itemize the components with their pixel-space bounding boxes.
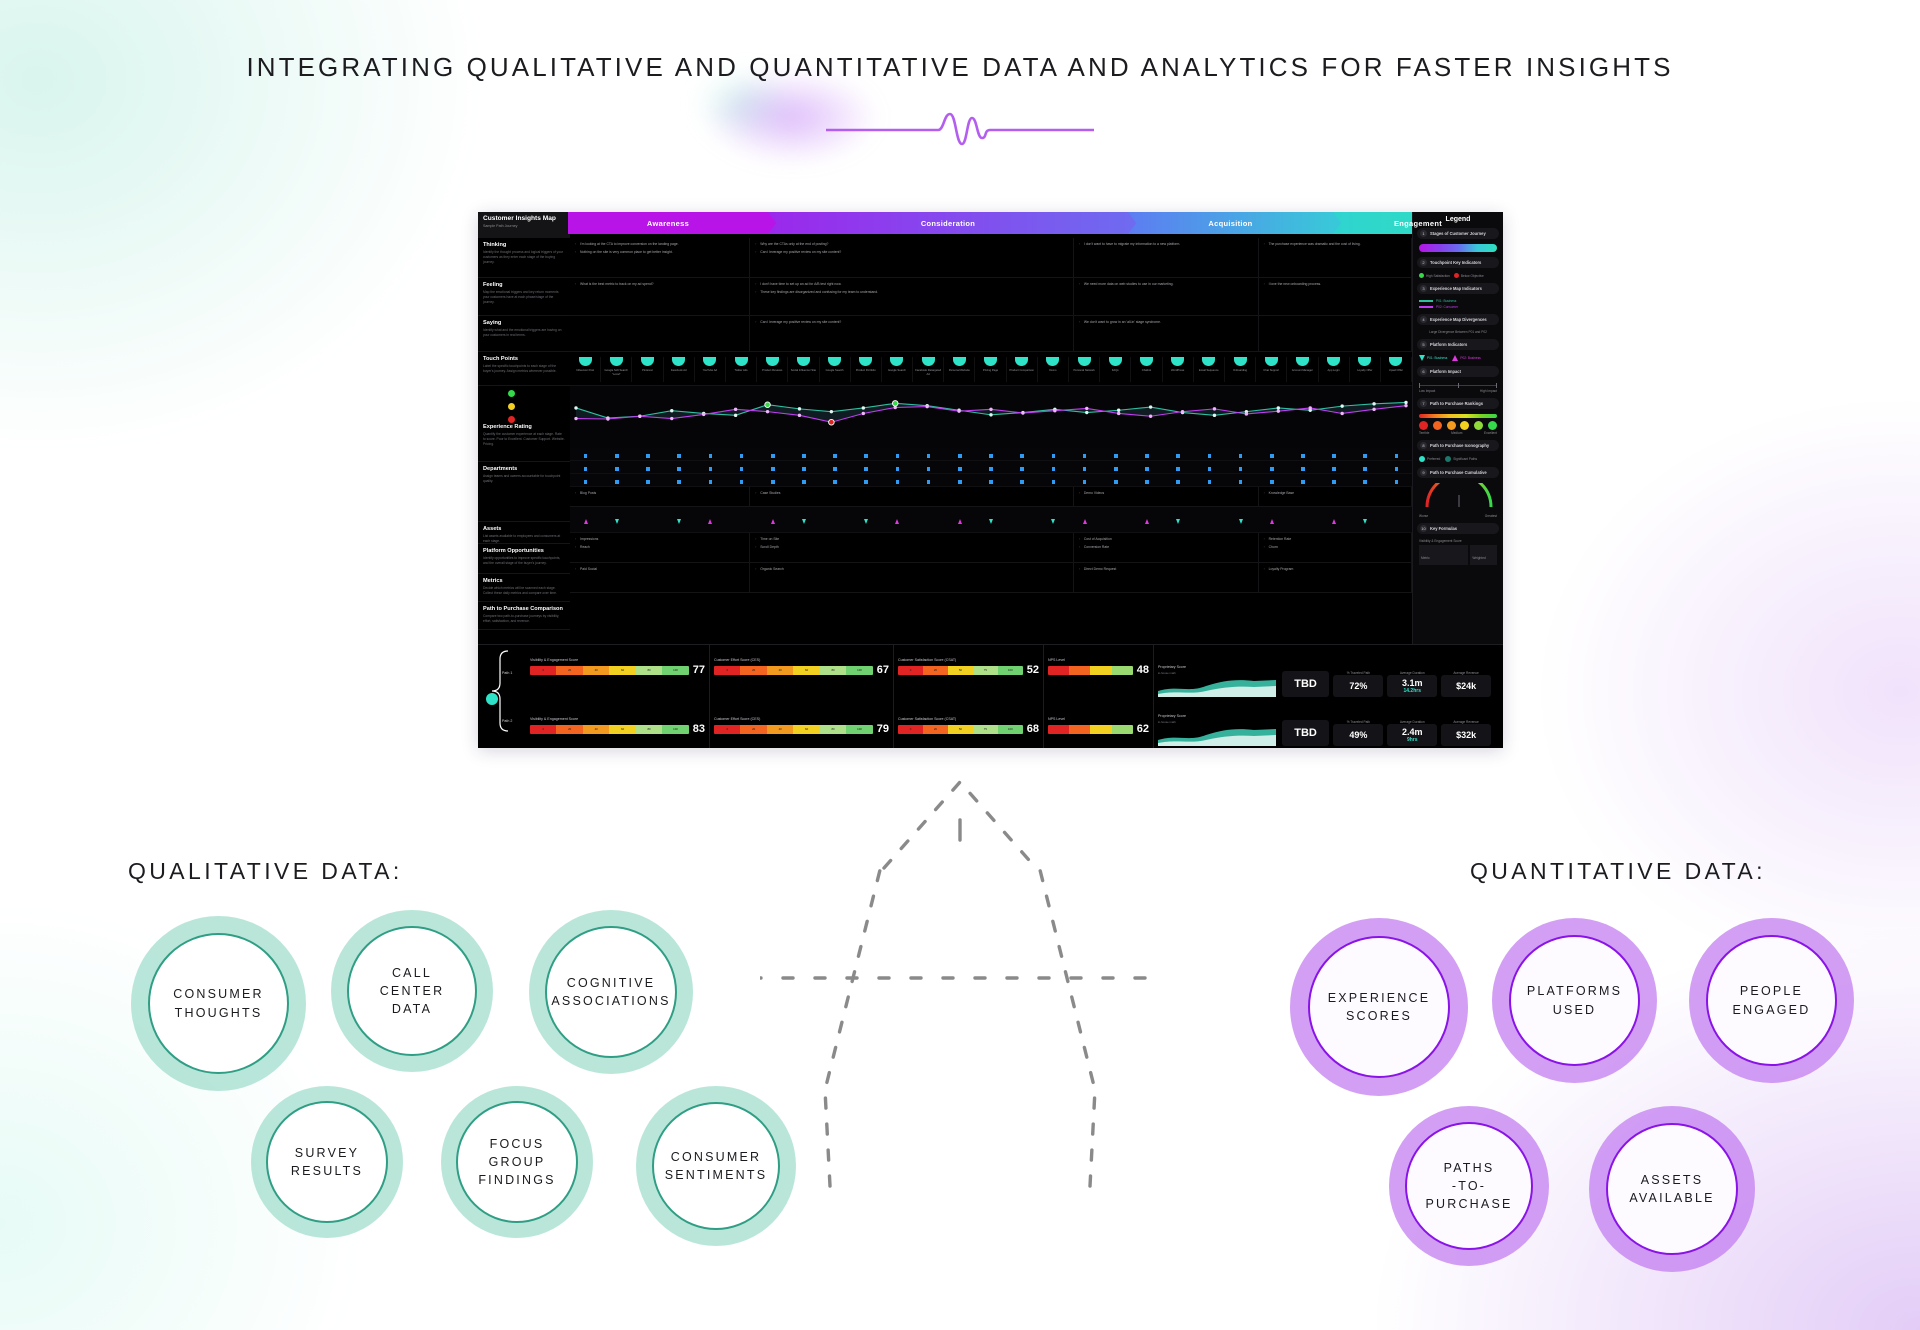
dashboard-title: Customer Insights Map xyxy=(483,215,565,222)
legend-panel: Legend 1 Stages of Customer Journey 2 To… xyxy=(1412,212,1503,644)
touchpoint-icon xyxy=(890,357,903,366)
touchpoint[interactable]: Pricing Page xyxy=(975,357,1006,382)
cell-paths-acquisition: Direct Demo Request xyxy=(1074,563,1259,592)
matrix-cell xyxy=(882,511,913,529)
matrix-cell xyxy=(1256,511,1287,529)
touchpoint[interactable]: Facebook Ad xyxy=(664,357,695,382)
rating-red-dot xyxy=(508,416,515,423)
matrix-dot xyxy=(1332,519,1336,524)
touchpoint[interactable]: Product Reviews xyxy=(757,357,788,382)
cell-item: Knowledge Base xyxy=(1264,491,1406,496)
touchpoint[interactable]: Google Soft Search "Local" xyxy=(601,357,632,382)
gauge-value: 62 xyxy=(1137,723,1149,735)
matrix-dot xyxy=(989,480,993,484)
cell-item: I don't want to have to migrate my infor… xyxy=(1079,242,1253,247)
row-desc: Assign teams and owners accountable for … xyxy=(483,474,565,484)
bubble-label: PATHS-TO-PURCHASE xyxy=(1425,1159,1512,1213)
matrix-dot xyxy=(1363,480,1367,484)
grid-row-path-comparison: Paid Social Organic Search Direct Demo R… xyxy=(570,563,1412,593)
cell-assets-awareness: Blog Posts xyxy=(570,487,750,506)
row-heading: Saying xyxy=(483,320,565,326)
legend-item-divergences[interactable]: 4 Experience Map Divergences xyxy=(1417,314,1499,325)
experience-chart-svg xyxy=(570,386,1412,448)
touchpoint[interactable]: Email Sequence xyxy=(1194,357,1225,382)
cell-item: The purchase experience was dramatic and… xyxy=(1264,242,1406,247)
rank-low-label: Terrible xyxy=(1419,431,1429,435)
touchpoint[interactable]: Demo xyxy=(1038,357,1069,382)
cell-thinking-awareness: I'm looking at the CTA to improve conver… xyxy=(570,238,750,277)
matrix-cell xyxy=(851,511,882,529)
touchpoint-label: Influencer Post xyxy=(571,369,599,373)
quantitative-heading: QUANTITATIVE DATA: xyxy=(1470,858,1766,885)
cell-item: Can I leverage my positive review on my … xyxy=(755,250,1068,255)
row-desc: Map the emotional triggers and key retur… xyxy=(483,290,565,304)
cell-item: Reach xyxy=(575,545,744,550)
touchpoint-icon xyxy=(579,357,592,366)
touchpoint-icon xyxy=(610,357,623,366)
rating-yellow-dot xyxy=(508,403,515,410)
touchpoint-label: Twitter Ads xyxy=(727,369,755,373)
matrix-cell xyxy=(601,511,632,529)
stage-gradient-bar xyxy=(1419,244,1497,252)
p01-line-icon xyxy=(1419,300,1433,302)
row-heading: Experience Rating xyxy=(483,424,565,430)
cell-assets-consideration: Case Studies xyxy=(750,487,1074,506)
touchpoint[interactable]: Personal Website xyxy=(944,357,975,382)
legend-number: 9 xyxy=(1420,469,1427,476)
legend-map-body: P01: Business P02: Consumer xyxy=(1417,297,1499,314)
touchpoint-label: WordPress xyxy=(1164,369,1192,373)
touchpoint-icon xyxy=(1389,357,1402,366)
bubble-label: PEOPLEENGAGED xyxy=(1733,982,1811,1018)
matrix-cell xyxy=(1319,511,1350,529)
touchpoint[interactable]: Google Search xyxy=(820,357,851,382)
metric-name: Visibility & Engagement Score xyxy=(530,658,705,662)
experience-rating-chart xyxy=(570,386,1412,448)
bubble-people-engaged[interactable]: PEOPLEENGAGED xyxy=(1689,918,1854,1083)
cell-metrics-engagement: Retention RateChurn xyxy=(1259,533,1412,562)
score-scale-bar: 02040 6080100 xyxy=(714,666,873,675)
score-scale-bar: 02040 6080100 xyxy=(714,725,873,734)
touchpoint-label: Demo xyxy=(1039,369,1067,373)
bubble-platforms-used[interactable]: PLATFORMSUSED xyxy=(1492,918,1657,1083)
bubble-label: CALLCENTERDATA xyxy=(380,964,445,1018)
rating-green-dot xyxy=(508,390,515,397)
cell-item: Why are the CTAs only at the end of post… xyxy=(755,242,1068,247)
cell-feeling-engagement: I love the new onboarding process. xyxy=(1259,278,1412,315)
legend-label: Experience Map Divergences xyxy=(1430,317,1487,322)
matrix-dot xyxy=(771,480,775,484)
cell-saying-consideration: Can I leverage my positive review on my … xyxy=(750,316,1074,351)
cell-item: Time on Site xyxy=(755,537,1068,542)
bubble-label: CONSUMERTHOUGHTS xyxy=(173,985,264,1021)
kpi-revenue-path1[interactable]: $24k xyxy=(1441,675,1491,697)
face-bad-icon xyxy=(1433,421,1442,430)
bubble-experience-scores[interactable]: EXPERIENCESCORES xyxy=(1290,918,1468,1096)
touchpoint-icon xyxy=(797,357,810,366)
legend-number: 8 xyxy=(1420,442,1427,449)
legend-label: Experience Map Indicators xyxy=(1430,286,1482,291)
touchpoint[interactable]: Social Influencer Site xyxy=(788,357,819,382)
matrix-dot xyxy=(1270,519,1274,524)
cell-item: Can I leverage my positive review on my … xyxy=(755,320,1068,325)
row-desc: Label the specific touchpoints to each s… xyxy=(483,364,565,374)
sidebar-row-experience-rating: Experience Rating Quantify the customer … xyxy=(478,386,570,462)
matrix-dot xyxy=(615,519,619,524)
bubble-label: FOCUSGROUPFINDINGS xyxy=(478,1135,555,1189)
face-medium-icon xyxy=(1460,421,1469,430)
customer-insights-dashboard[interactable]: Customer Insights Map Sample Path Journe… xyxy=(478,212,1503,748)
legend-item-iconography[interactable]: 8 Path to Purchase Iconography xyxy=(1417,440,1499,451)
matrix-cell xyxy=(1038,511,1069,529)
dashboard-content-grid: I'm looking at the CTA to improve conver… xyxy=(570,238,1412,593)
metric-row-path2: Visibility & Engagement Score 02040 6080… xyxy=(530,717,705,748)
touchpoint-label: App Login xyxy=(1320,369,1348,373)
matrix-dot xyxy=(1270,480,1274,484)
cell-item: Retention Rate xyxy=(1264,537,1406,542)
metric-visibility-engagement: Visibility & Engagement Score 02040 6080… xyxy=(526,645,710,748)
score-scale-bar: 02050 75100 xyxy=(898,725,1023,734)
qualitative-heading: QUALITATIVE DATA: xyxy=(128,858,403,885)
matrix-cell xyxy=(975,511,1006,529)
touchpoint[interactable]: Product Portfolio xyxy=(851,357,882,382)
matrix-dot xyxy=(646,480,650,484)
kpi-duration-path1[interactable]: 3.1m 14.2hrs xyxy=(1387,675,1437,697)
metric-row-path1: NPS Level 48 xyxy=(1048,658,1149,707)
kpi-duration-path2[interactable]: 2.4m 9hrs xyxy=(1387,724,1437,746)
touchpoint[interactable]: WordPress xyxy=(1163,357,1194,382)
cell-saying-acquisition: We don't want to grow in an 'all-in' sta… xyxy=(1074,316,1259,351)
score-scale-bar: 02040 6080100 xyxy=(530,666,689,675)
matrix-cell xyxy=(664,511,695,529)
metric-name: NPS Level xyxy=(1048,658,1149,662)
touchpoint[interactable]: Account Manager xyxy=(1287,357,1318,382)
matrix-dot xyxy=(927,480,931,484)
proprietary-sparkline xyxy=(1158,675,1276,697)
cell-item: Churn xyxy=(1264,545,1406,550)
cell-paths-awareness: Paid Social xyxy=(570,563,750,592)
dashboard-subtitle: Sample Path Journey xyxy=(483,224,565,228)
grid-row-feeling: What is the best metric to track on my a… xyxy=(570,278,1412,316)
cell-item: What is the best metric to track on my a… xyxy=(575,282,744,287)
bubble-focus-group-findings[interactable]: FOCUSGROUPFINDINGS xyxy=(441,1086,593,1238)
formula-title: Visibility & Engagement Score xyxy=(1419,539,1497,543)
metric-name: Visibility & Engagement Score xyxy=(530,717,705,721)
kpi-revenue-path2[interactable]: $32k xyxy=(1441,724,1491,746)
sidebar-row-saying: Saying Identify what and the emotional t… xyxy=(478,316,570,352)
legend-p02: P02: Consumer xyxy=(1436,305,1458,309)
face-poor-icon xyxy=(1447,421,1456,430)
metric-name: NPS Level xyxy=(1048,717,1149,721)
matrix-dot xyxy=(1332,480,1336,484)
kpi-value: 3.1m xyxy=(1402,678,1423,688)
touchpoint-label: Onboarding xyxy=(1226,369,1254,373)
touchpoint[interactable]: Personal Network xyxy=(1069,357,1100,382)
matrix-dot xyxy=(1176,519,1180,524)
cell-metrics-acquisition: Cost of AcquisitionConversion Rate xyxy=(1074,533,1259,562)
touchpoint-icon xyxy=(1046,357,1059,366)
legend-item-map-indicators[interactable]: 3 Experience Map Indicators xyxy=(1417,283,1499,294)
legend-label: Path to Purchase Iconography xyxy=(1430,443,1489,448)
cell-item: Blog Posts xyxy=(575,491,744,496)
bubble-consumer-sentiments[interactable]: CONSUMERSENTIMENTS xyxy=(636,1086,796,1246)
legend-impact-body: Low Impact High Impact xyxy=(1417,380,1499,398)
touchpoint-icon xyxy=(1109,357,1122,366)
cell-item: Demo Videos xyxy=(1079,491,1253,496)
touchpoint-icon xyxy=(1015,357,1028,366)
bubble-label: SURVEYRESULTS xyxy=(291,1144,363,1180)
path2-label: Path 2 xyxy=(502,719,512,723)
path-comparison-metrics: Path 1 Path 2 Visibility & Engagement Sc… xyxy=(478,644,1503,748)
row-heading: Touch Points xyxy=(483,356,565,362)
metric-proprietary-kpis: Proprietary Score in-house math TBD % Tr… xyxy=(1154,645,1495,748)
row-desc: Compare two path-to-purchase journeys by… xyxy=(483,614,565,624)
dashed-converging-arrow-icon xyxy=(760,760,1160,1190)
grid-row-touchpoints: Influencer Post Google Soft Search "Loca… xyxy=(570,352,1412,386)
touchpoint-label: YouTube Ad xyxy=(696,369,724,373)
cell-metrics-awareness: ImpressionsReach xyxy=(570,533,750,562)
bubble-label: COGNITIVEASSOCIATIONS xyxy=(551,974,670,1010)
rank-mid-label: Medium xyxy=(1451,431,1462,435)
touchpoint-icon xyxy=(1140,357,1153,366)
journey-stage-ribbon: Awareness Consideration Acquisition Enga… xyxy=(568,212,1503,234)
cell-item: Direct Demo Request xyxy=(1079,567,1253,572)
score-scale-bar xyxy=(1048,666,1133,675)
stage-consideration[interactable]: Consideration xyxy=(768,212,1128,234)
sidebar-row-thinking: Thinking Identify the thought process an… xyxy=(478,238,570,278)
face-excellent-icon xyxy=(1488,421,1497,430)
matrix-dot xyxy=(1083,519,1087,524)
kpi-value: 49% xyxy=(1349,730,1367,740)
bubble-call-center-data[interactable]: CALLCENTERDATA xyxy=(331,910,493,1072)
divergence-note: Large Divergence Between P01 and P02 xyxy=(1419,330,1497,334)
path1-label: Path 1 xyxy=(502,671,512,675)
preferred-icon xyxy=(1419,456,1425,462)
sidebar-row-platform-opportunities: Platform Opportunities Identify opportun… xyxy=(478,544,570,574)
cell-thinking-engagement: The purchase experience was dramatic and… xyxy=(1259,238,1412,277)
bubble-paths-to-purchase[interactable]: PATHS-TO-PURCHASE xyxy=(1389,1106,1549,1266)
legend-plat-p01: P01: Business xyxy=(1427,356,1447,360)
cell-assets-engagement: Knowledge Base xyxy=(1259,487,1412,506)
touchpoint-icon xyxy=(953,357,966,366)
touchpoint-label: Pinterest xyxy=(633,369,661,373)
proprietary-sparkline xyxy=(1158,724,1276,746)
touchpoint[interactable]: Product Comparison xyxy=(1007,357,1038,382)
legend-divergence-body: Large Divergence Between P01 and P02 xyxy=(1417,328,1499,339)
grid-row-thinking: I'm looking at the CTA to improve conver… xyxy=(570,238,1412,278)
touchpoint-icon xyxy=(1327,357,1340,366)
cell-item: Paid Social xyxy=(575,567,744,572)
touchpoint-label: Chat Support xyxy=(1257,369,1285,373)
kpi-value: $32k xyxy=(1456,730,1476,740)
matrix-dot xyxy=(1020,480,1024,484)
touchpoint[interactable]: Onboarding xyxy=(1225,357,1256,382)
legend-item-touchpoint-indicators[interactable]: 2 Touchpoint Key Indicators xyxy=(1417,257,1499,268)
cell-paths-consideration: Organic Search xyxy=(750,563,1074,592)
matrix-cell xyxy=(757,511,788,529)
cell-item: Case Studies xyxy=(755,491,1068,496)
matrix-cell xyxy=(1350,511,1381,529)
legend-tp-negative: Below Objective xyxy=(1461,274,1484,278)
metric-nps: NPS Level 48 NPS Level 62 xyxy=(1044,645,1154,748)
kpi-sub: 14.2hrs xyxy=(1403,688,1421,694)
touchpoint[interactable]: Twitter Ads xyxy=(726,357,757,382)
rank-high-label: Excellent xyxy=(1484,431,1497,435)
sidebar-row-metrics: Metrics Decide which metrics will be sca… xyxy=(478,574,570,602)
touchpoint-icon xyxy=(859,357,872,366)
gauge-value: 77 xyxy=(693,664,705,676)
bubble-consumer-thoughts[interactable]: CONSUMERTHOUGHTS xyxy=(131,916,306,1091)
legend-label: Path to Purchase Cumulative xyxy=(1430,470,1487,475)
row-heading: Metrics xyxy=(483,578,565,584)
formula-col-1: Metric xyxy=(1421,556,1430,560)
row-heading: Thinking xyxy=(483,242,565,248)
matrix-dot xyxy=(989,519,993,524)
matrix-dot xyxy=(1239,519,1243,524)
negative-dot-icon xyxy=(1454,273,1459,278)
score-scale-bar xyxy=(1048,725,1133,734)
grid-row-assets: Blog Posts Case Studies Demo Videos Know… xyxy=(570,487,1412,507)
legend-item-formulas[interactable]: 10 Key Formulas xyxy=(1417,523,1499,534)
legend-rankings-body: Terrible Medium Excellent xyxy=(1417,412,1499,440)
touchpoint-label: Personal Website xyxy=(945,369,973,373)
kpi-traveled-path1[interactable]: 72% xyxy=(1333,675,1383,697)
proprietary-name: Proprietary Score xyxy=(1158,665,1278,669)
touchpoint[interactable]: Loyalty Offer xyxy=(1350,357,1381,382)
bubble-label: CONSUMERSENTIMENTS xyxy=(665,1148,768,1184)
touchpoint[interactable]: Facebook Retargeted Ad xyxy=(913,357,944,382)
legend-stages-swatch xyxy=(1417,242,1499,257)
touchpoint-icon xyxy=(1296,357,1309,366)
legend-item-rankings[interactable]: 7 Path to Purchase Rankings xyxy=(1417,398,1499,409)
legend-item-platform-impact[interactable]: 6 Platform Impact xyxy=(1417,366,1499,377)
metric-row-path1: Customer Satisfaction Score (CSAT) 02050… xyxy=(898,658,1039,707)
departments-row-3 xyxy=(570,474,1412,487)
stage-label: Engagement xyxy=(1394,219,1442,228)
matrix-dot xyxy=(677,519,681,524)
legend-number: 1 xyxy=(1420,230,1427,237)
legend-item-cumulative[interactable]: 9 Path to Purchase Cumulative xyxy=(1417,467,1499,478)
matrix-dot xyxy=(708,519,712,524)
matrix-cell xyxy=(1069,511,1100,529)
touchpoint-icon xyxy=(828,357,841,366)
row-desc: Quantify the customer experience at each… xyxy=(483,432,565,446)
touchpoint[interactable]: Upsell Offer xyxy=(1381,357,1412,382)
metric-name: Customer Satisfaction Score (CSAT) xyxy=(898,658,1039,662)
cell-item: Nothing on the site is very common place… xyxy=(575,250,744,255)
matrix-dot xyxy=(895,519,899,524)
legend-label: Platform Impact xyxy=(1430,369,1461,374)
touchpoint-label: Google Search xyxy=(821,369,849,373)
bubble-assets-available[interactable]: ASSETSAVAILABLE xyxy=(1589,1106,1755,1272)
matrix-dot xyxy=(615,480,619,484)
touchpoint-label: Personal Network xyxy=(1070,369,1098,373)
face-terrible-icon xyxy=(1419,421,1428,430)
matrix-dot xyxy=(802,480,806,484)
matrix-dot xyxy=(1145,480,1149,484)
touchpoint-icon xyxy=(672,357,685,366)
metric-name: Customer Effort Score (CES) xyxy=(714,658,889,662)
cell-item: Organic Search xyxy=(755,567,1068,572)
cell-metrics-consideration: Time on SiteScroll Depth xyxy=(750,533,1074,562)
row-desc: Identify opportunities to improve specif… xyxy=(483,556,565,566)
matrix-dot xyxy=(1395,480,1399,484)
impact-low-label: Low Impact xyxy=(1419,389,1435,393)
touchpoint-icon xyxy=(1078,357,1091,366)
bubble-cognitive-associations[interactable]: COGNITIVEASSOCIATIONS xyxy=(529,910,693,1074)
metric-name: Customer Satisfaction Score (CSAT) xyxy=(898,717,1039,721)
cell-item: Scroll Depth xyxy=(755,545,1068,550)
touchpoint[interactable]: Chat Support xyxy=(1256,357,1287,382)
row-heading: Feeling xyxy=(483,282,565,288)
legend-number: 2 xyxy=(1420,259,1427,266)
touchpoint[interactable]: Pinterest xyxy=(632,357,663,382)
touchpoint[interactable]: FAQs xyxy=(1100,357,1131,382)
matrix-dot xyxy=(584,519,588,524)
tbd-value: TBD xyxy=(1294,727,1317,739)
stage-awareness[interactable]: Awareness xyxy=(568,212,768,234)
touchpoint[interactable]: Influencer Post xyxy=(570,357,601,382)
kpi-traveled-path2[interactable]: 49% xyxy=(1333,724,1383,746)
dashboard-title-cell: Customer Insights Map Sample Path Journe… xyxy=(478,212,570,238)
touchpoint-icon xyxy=(766,357,779,366)
matrix-dot xyxy=(1363,519,1367,524)
legend-number: 5 xyxy=(1420,341,1427,348)
cell-item: These key findings are disorganized and … xyxy=(755,290,1068,295)
metric-row-path2: Customer Effort Score (CES) 02040 608010… xyxy=(714,717,889,748)
touchpoint-label: Facebook Ad xyxy=(665,369,693,373)
touchpoint-label: Upsell Offer xyxy=(1382,369,1410,373)
legend-item-stages[interactable]: 1 Stages of Customer Journey xyxy=(1417,228,1499,239)
cell-item: I love the new onboarding process. xyxy=(1264,282,1406,287)
formula-col-2: Weighted xyxy=(1472,556,1485,560)
touchpoint[interactable]: Chatbot xyxy=(1131,357,1162,382)
stage-label: Acquisition xyxy=(1208,219,1252,228)
metric-row-path2: NPS Level 62 xyxy=(1048,717,1149,748)
legend-label: Key Formulas xyxy=(1430,526,1457,531)
legend-item-platform-indicators[interactable]: 5 Platform Indicators xyxy=(1417,339,1499,350)
cell-feeling-consideration: I don't have time to set up an ad for A/… xyxy=(750,278,1074,315)
stage-acquisition[interactable]: Acquisition xyxy=(1128,212,1333,234)
touchpoint-label: Chatbot xyxy=(1132,369,1160,373)
cum-high-label: Greatest xyxy=(1485,514,1497,518)
matrix-cell xyxy=(1163,511,1194,529)
matrix-dot xyxy=(958,519,962,524)
row-desc: Identify the thought process and logical… xyxy=(483,250,565,264)
positive-dot-icon xyxy=(1419,273,1424,278)
legend-tp-body: High Satisfaction Below Objective xyxy=(1417,271,1499,283)
touchpoint[interactable]: App Login xyxy=(1319,357,1350,382)
kpi-row-path2: Proprietary Score in-house math TBD % Tr… xyxy=(1158,697,1491,746)
row-desc: Identify what and the emotional triggers… xyxy=(483,328,565,338)
bubble-survey-results[interactable]: SURVEYRESULTS xyxy=(251,1086,403,1238)
matrix-dot xyxy=(1083,480,1087,484)
matrix-dot xyxy=(1176,480,1180,484)
matrix-cell xyxy=(788,511,819,529)
touchpoint-label: Loyalty Offer xyxy=(1351,369,1379,373)
touchpoint-icon xyxy=(641,357,654,366)
touchpoint[interactable]: YouTube Ad xyxy=(695,357,726,382)
cell-thinking-consideration: Why are the CTAs only at the end of post… xyxy=(750,238,1074,277)
touchpoint[interactable]: Google Search xyxy=(882,357,913,382)
sidebar-row-departments: Departments Assign teams and owners acco… xyxy=(478,462,570,522)
touchpoint-icon xyxy=(984,357,997,366)
kpi-value: $24k xyxy=(1456,681,1476,691)
touchpoint-icon xyxy=(1234,357,1247,366)
touchpoint-label: Facebook Retargeted Ad xyxy=(914,369,942,376)
metric-row-path2: Customer Satisfaction Score (CSAT) 02050… xyxy=(898,717,1039,748)
matrix-dot xyxy=(709,480,713,484)
